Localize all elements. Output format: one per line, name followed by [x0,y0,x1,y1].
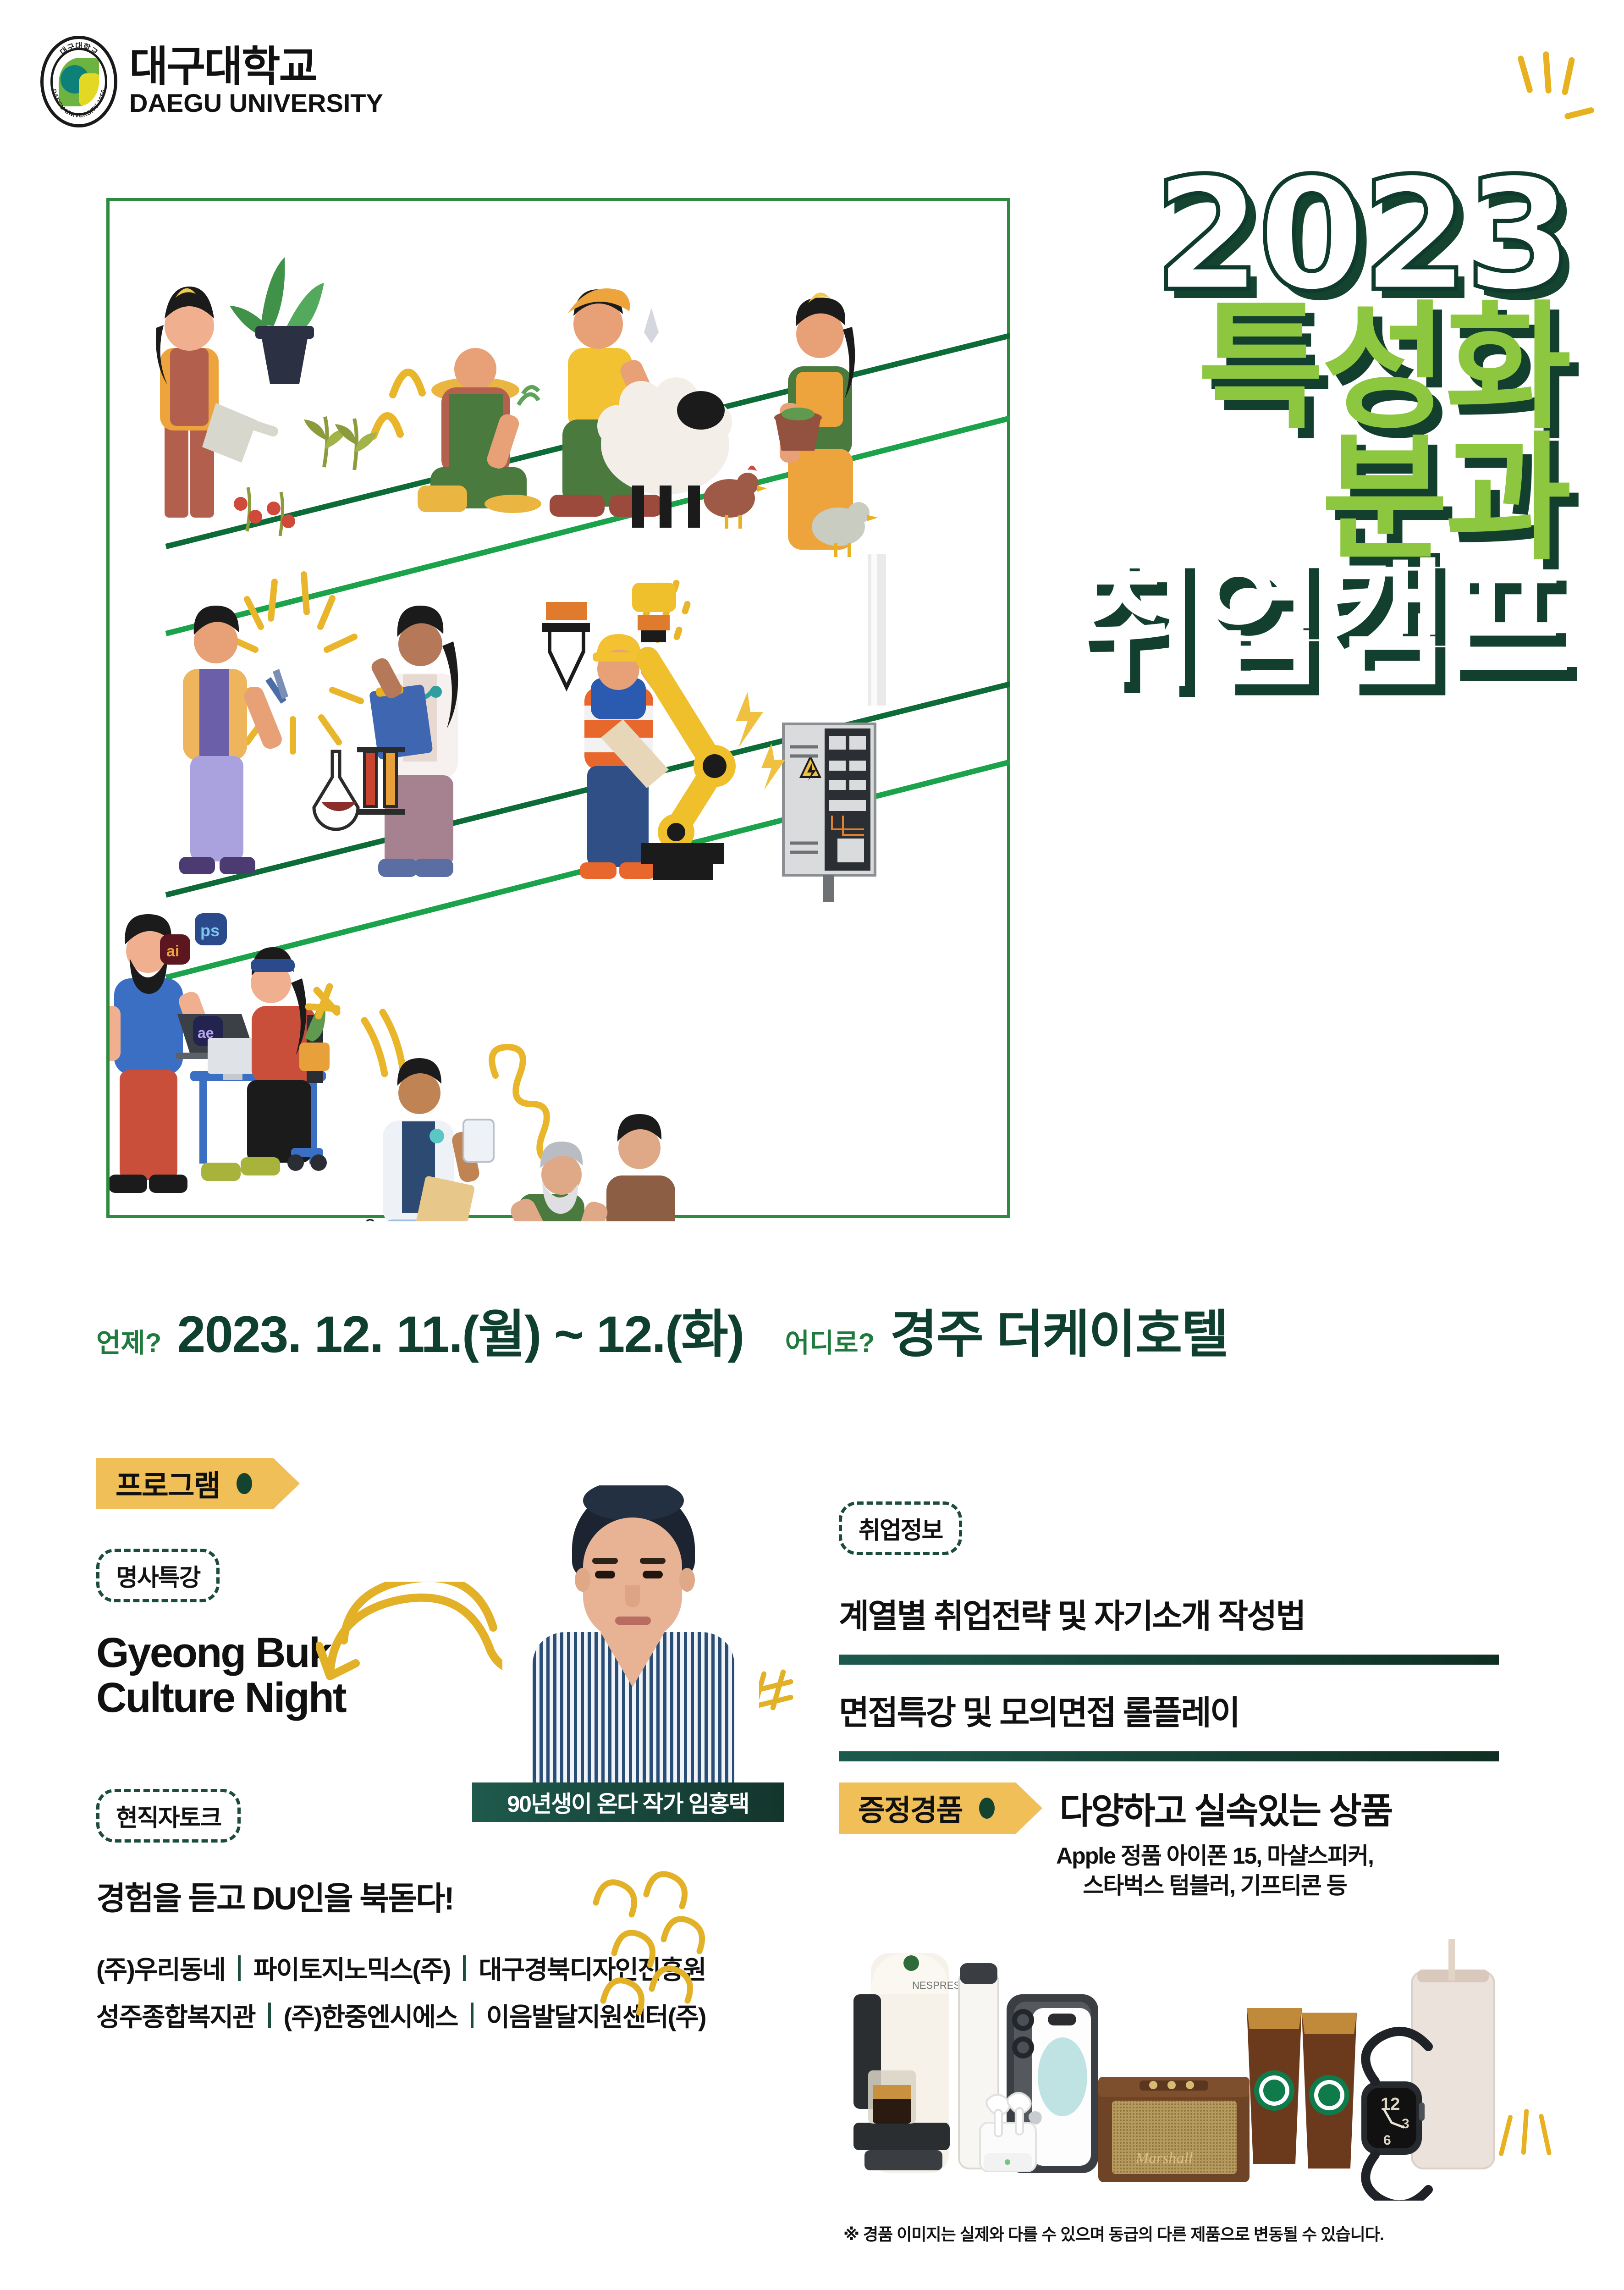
gift-sparkle-icon [1499,2109,1581,2191]
gift-section-header: 증정경품 다양하고 실속있는 상품 [839,1782,1554,1834]
university-name-ko: 대구대학교 [129,46,383,88]
illustration-frame: ps ai ae [106,198,1010,1218]
svg-text:a: a [364,1211,376,1221]
gift-detail-line-2: 스타벅스 텀블러, 기프티콘 등 [940,1871,1490,1901]
svg-text:DAEGU UNIVERSITY 1956: DAEGU UNIVERSITY 1956 [50,88,107,119]
ribbon-dot-icon [237,1473,252,1494]
where-value: 경주 더케이호텔 [890,1293,1228,1367]
illustration-agriculture [110,210,1013,559]
talk-tag: 현직자토크 [96,1789,241,1843]
gift-ribbon: 증정경품 [839,1782,1016,1834]
company-divider [463,1955,466,1981]
illustration-creative-care: ps ai ae [110,891,1013,1221]
svg-text:대구대학교: 대구대학교 [59,42,99,57]
starbucks-drink-icon [1247,2008,1357,2169]
where-label: 어디로? [785,1321,875,1360]
university-name-en: DAEGU UNIVERSITY [129,89,383,117]
clear-tumbler-icon [1412,1939,1494,2169]
coffee-machine-icon: NESPRESSO [853,1953,975,2173]
company-name: 파이토지노믹스(주) [253,1949,450,1987]
jobinfo-item-1: 계열별 취업전략 및 자기소개 작성법 [839,1589,1554,1637]
illustration-technology [110,554,1013,903]
divider-rule [839,1751,1499,1761]
company-divider [268,2003,271,2028]
when-label: 언제? [96,1321,161,1360]
university-logo: 대구대학교 DAEGU UNIVERSITY 1956 대구대학교 DAEGU … [40,36,383,127]
keynote-speaker-card: 90년생이 온다 작가 임홍택 [472,1485,784,1838]
svg-text:3: 3 [1402,2116,1409,2131]
svg-text:12: 12 [1381,2095,1400,2114]
airpods-icon [980,2093,1036,2171]
when-value: 2023. 12. 11.(월) ~ 12.(화) [177,1293,743,1367]
title-line-3: 취업캠프 [1074,557,1569,694]
program-ribbon: 프로그램 [96,1458,273,1509]
jobinfo-tag: 취업정보 [839,1501,962,1555]
company-divider [238,1955,241,1981]
seal-text: 대구대학교 DAEGU UNIVERSITY 1956 [40,36,117,127]
gift-headline: 다양하고 실속있는 상품 [1060,1782,1392,1834]
title-line-2: 분과 [1074,430,1569,568]
prize-disclaimer: ※ 경품 이미지는 실제와 다를 수 있으며 동급의 다른 제품으로 변동될 수… [843,2221,1384,2245]
prize-products-image: NESPRESSO [843,1939,1540,2201]
company-name: (주)한중엔시에스 [284,1997,458,2034]
poster-title: 2023 특성화 분과 취업캠프 [1074,165,1569,694]
curl-decoration-icon [587,1871,724,2022]
marshall-speaker-icon: Marshall [1098,2077,1250,2182]
svg-text:ps: ps [200,921,220,940]
title-line-1: 특성화 [1074,299,1569,436]
company-name: (주)우리동네 [96,1949,225,1987]
jobinfo-item-2: 면접특강 및 모의면접 롤플레이 [839,1686,1554,1734]
title-year: 2023 [1074,165,1569,305]
speaker-caption: 90년생이 온다 작가 임홍택 [472,1782,784,1822]
keynote-tag: 명사특강 [96,1549,220,1602]
program-ribbon-label: 프로그램 [116,1462,220,1505]
university-seal-icon: 대구대학교 DAEGU UNIVERSITY 1956 [40,36,117,127]
gift-ribbon-label: 증정경품 [858,1787,963,1829]
ribbon-dot-icon [979,1798,995,1819]
svg-text:Marshall: Marshall [1135,2150,1193,2167]
gift-detail: Apple 정품 아이폰 15, 마샬스피커, 스타벅스 텀블러, 기프티콘 등 [940,1841,1490,1901]
svg-text:6: 6 [1383,2133,1391,2148]
company-divider [471,2003,473,2028]
speaker-photo [502,1485,759,1788]
jobinfo-section: 취업정보 계열별 취업전략 및 자기소개 작성법 면접특강 및 모의면접 롤플레… [839,1501,1554,1901]
sparkle-icon [1514,50,1606,138]
divider-rule [839,1655,1499,1665]
gift-detail-line-1: Apple 정품 아이폰 15, 마샬스피커, [940,1841,1490,1871]
event-when-where: 언제? 2023. 12. 11.(월) ~ 12.(화) 어디로? 경주 더케… [96,1293,1563,1367]
company-name: 성주종합복지관 [96,1997,255,2034]
svg-text:ai: ai [166,943,179,960]
